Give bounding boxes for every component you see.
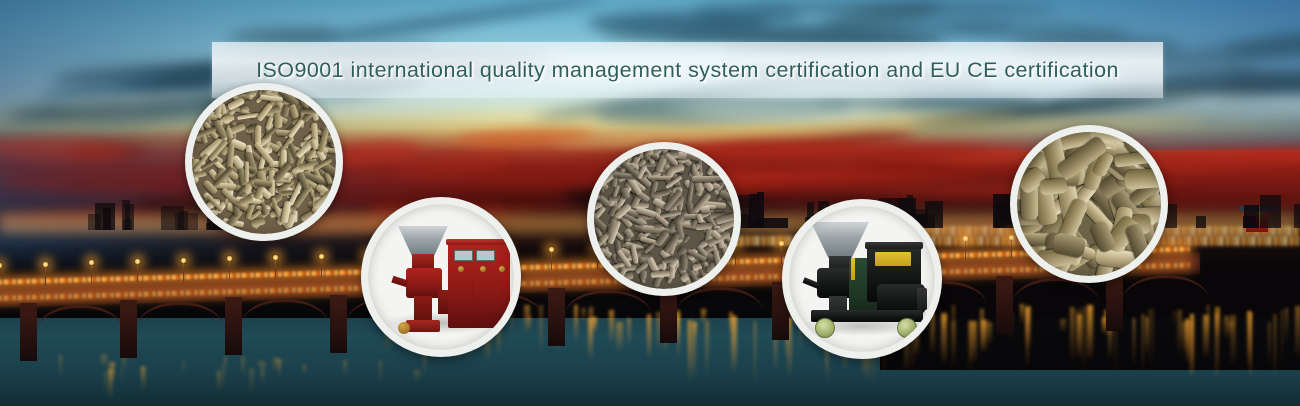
- bridge-lamp-post: [229, 259, 230, 279]
- bridge-pier: [1106, 273, 1123, 331]
- bridge-lamp-post: [965, 239, 966, 259]
- light-reflection: [942, 316, 946, 329]
- skyline-building: [103, 208, 111, 230]
- light-reflection: [104, 371, 107, 396]
- light-reflection: [278, 359, 282, 376]
- light-reflection: [1274, 314, 1276, 377]
- wood-pellet: [244, 162, 248, 183]
- bridge-lamp-post: [137, 262, 138, 282]
- pellet-texture-macro: [1017, 132, 1161, 276]
- bridge-lamp-post: [321, 257, 322, 277]
- light-reflection: [1215, 307, 1220, 338]
- skyline-building: [1294, 204, 1300, 228]
- bridge-lamp: [1008, 234, 1015, 241]
- light-reflection: [141, 367, 144, 383]
- light-reflection: [693, 322, 697, 378]
- bridge-pier: [120, 300, 137, 358]
- bridge-pier: [225, 297, 242, 355]
- pellet-texture-light: [192, 90, 336, 234]
- wood-pellet: [192, 92, 198, 110]
- bridge-lamp: [180, 257, 187, 264]
- circle-green-pellet-mill: [782, 199, 942, 359]
- light-reflection: [1268, 322, 1271, 365]
- green-machine-wheel-left: [815, 318, 835, 338]
- red-cabinet-knob-3: [499, 266, 505, 272]
- wood-pellet: [1039, 178, 1067, 196]
- wood-pellet: [198, 90, 203, 96]
- light-reflection: [1026, 308, 1028, 366]
- light-reflection: [120, 368, 122, 390]
- wood-pellet: [1125, 167, 1161, 190]
- light-reflection: [980, 309, 984, 353]
- light-reflection: [1148, 309, 1154, 365]
- red-cabinet-meter-2: [476, 250, 495, 261]
- bridge-pier: [330, 295, 347, 353]
- light-reflection: [754, 322, 756, 383]
- light-reflection: [1020, 304, 1023, 322]
- light-reflection: [1228, 321, 1234, 335]
- skyline-building: [1260, 195, 1281, 228]
- light-reflection: [968, 321, 972, 370]
- circle-wood-pellets-macro: [1010, 125, 1168, 283]
- bridge-lamp-post: [45, 265, 46, 285]
- light-reflection: [1207, 305, 1209, 336]
- wood-pellet: [640, 270, 647, 280]
- skyline-building: [1243, 216, 1256, 228]
- light-reflection: [260, 360, 265, 379]
- light-reflection: [688, 321, 690, 372]
- light-reflection: [627, 318, 631, 345]
- red-machine-head: [406, 268, 442, 298]
- light-reflection: [379, 360, 382, 381]
- wood-pellet: [207, 216, 220, 223]
- bridge-pier: [548, 288, 565, 346]
- light-reflection: [647, 314, 651, 355]
- circle-wood-pellets-dark: [587, 142, 741, 296]
- wood-pellet: [192, 184, 196, 198]
- light-reflection: [729, 312, 733, 332]
- wood-pellet: [692, 176, 715, 182]
- light-reflection: [1087, 305, 1093, 360]
- bridge-lamp-post: [91, 263, 92, 283]
- light-reflection: [1186, 320, 1188, 354]
- bridge-pier: [20, 303, 37, 361]
- green-machine-wheel-right: [897, 318, 917, 338]
- light-reflection: [343, 360, 347, 376]
- light-reflection: [1070, 307, 1074, 360]
- bridge-lamp: [134, 258, 141, 265]
- light-reflection: [616, 322, 623, 351]
- red-machine-wheel-badge: [398, 322, 410, 334]
- bridge-lamp: [42, 261, 49, 268]
- light-reflection: [1060, 319, 1067, 332]
- skyline-building: [88, 214, 101, 230]
- light-reflection: [1173, 312, 1176, 323]
- headline-panel: ISO9001 international quality management…: [212, 42, 1163, 98]
- wood-pellet: [237, 112, 259, 120]
- light-reflection: [303, 365, 306, 373]
- pellet-texture-dark: [594, 149, 734, 289]
- skyline-building: [123, 219, 131, 230]
- red-cabinet-knob-1: [458, 266, 464, 272]
- bridge-lamp: [778, 240, 785, 247]
- light-reflection: [987, 322, 992, 345]
- skyline-building: [178, 211, 188, 230]
- circle-red-pellet-mill: [361, 197, 521, 357]
- light-reflection: [951, 321, 956, 367]
- light-reflection: [1285, 308, 1287, 341]
- banner-headline: ISO9001 international quality management…: [256, 58, 1119, 83]
- light-reflection: [1281, 310, 1283, 363]
- light-reflection: [705, 321, 708, 374]
- wood-pellet: [289, 104, 299, 119]
- light-reflection: [414, 370, 420, 381]
- red-machine-base: [406, 320, 440, 332]
- light-reflection: [1190, 314, 1193, 378]
- light-reflection: [588, 318, 593, 360]
- bridge-lamp-post: [183, 261, 184, 281]
- wood-pellet: [301, 108, 326, 114]
- light-reflection: [241, 357, 245, 375]
- light-reflection: [1177, 310, 1183, 355]
- light-reflection: [1142, 314, 1144, 370]
- wood-pellet: [281, 106, 290, 118]
- light-reflection: [217, 371, 221, 392]
- skyline-building: [749, 194, 759, 228]
- bridge-lamp: [318, 253, 325, 260]
- skyline-building: [1196, 216, 1206, 228]
- bridge-pier: [996, 276, 1013, 334]
- bridge-lamp-post: [1011, 238, 1012, 258]
- light-reflection: [1133, 318, 1136, 364]
- wood-pellet: [206, 90, 213, 112]
- light-reflection: [249, 368, 254, 394]
- light-reflection: [101, 355, 107, 367]
- bridge-lamp-post: [551, 250, 552, 270]
- circle-wood-pellets-light: [185, 83, 343, 241]
- red-cabinet-meter-1: [454, 250, 473, 261]
- light-reflection: [59, 355, 62, 376]
- light-reflection: [181, 361, 186, 373]
- bridge-lamp: [962, 235, 969, 242]
- light-reflection: [1295, 306, 1300, 356]
- light-reflection: [109, 362, 115, 382]
- red-cabinet-knob-2: [480, 266, 486, 272]
- bridge-lamp-post: [275, 258, 276, 278]
- green-machine-motor-fan: [917, 288, 927, 310]
- red-cabinet-door-line: [472, 274, 473, 326]
- red-cabinet-top: [446, 239, 512, 245]
- green-machine-side-label: [851, 258, 855, 280]
- light-reflection: [222, 364, 225, 388]
- green-machine-nameplate: [875, 252, 911, 266]
- wood-pellet: [714, 155, 720, 166]
- wood-pellet: [195, 171, 207, 178]
- green-machine-gearbox-top: [865, 242, 923, 249]
- promotional-banner: ISO9001 international quality management…: [0, 0, 1300, 406]
- bridge-lamp-post: [781, 244, 782, 264]
- light-reflection: [1247, 311, 1251, 365]
- light-reflection: [284, 357, 286, 367]
- light-reflection: [1077, 314, 1082, 356]
- light-reflection: [224, 357, 227, 367]
